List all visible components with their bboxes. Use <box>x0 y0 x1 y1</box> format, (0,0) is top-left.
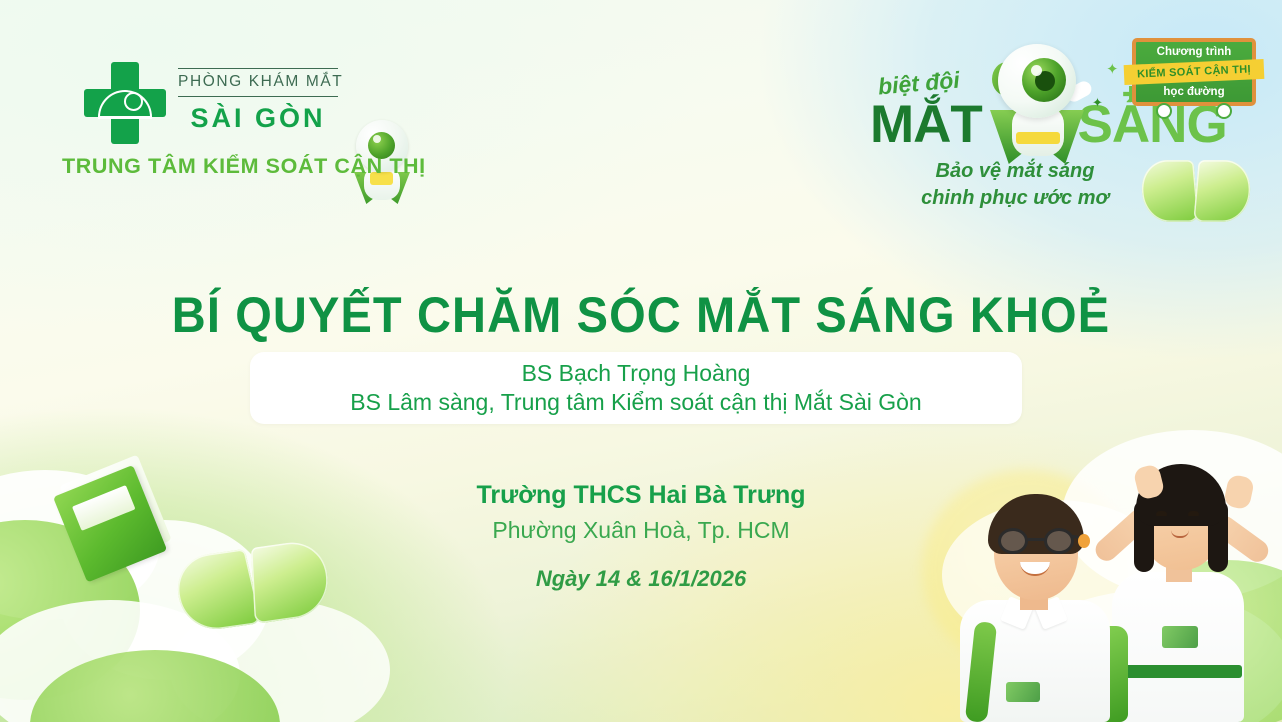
eye-robot-mascot-icon <box>982 40 1092 172</box>
student-boy <box>942 472 1132 722</box>
brand-tagline-line1: Bảo vệ mắt sáng <box>870 158 1160 185</box>
brand-tagline-line2: chinh phục ước mơ <box>870 185 1160 212</box>
badge-bottom-text: học đường <box>1128 86 1260 98</box>
uniform-logo-icon <box>1162 626 1198 648</box>
badge-ribbon-text: KIỂM SOÁT CẬN THỊ <box>1137 64 1251 81</box>
speaker-role: BS Lâm sàng, Trung tâm Kiểm soát cận thị… <box>350 388 921 417</box>
clinic-wordmark: PHÒNG KHÁM MẮT SÀI GÒN <box>178 68 338 134</box>
green-blob <box>30 650 280 722</box>
eyeglasses-icon <box>996 528 1076 554</box>
speaker-panel: BS Bạch Trọng Hoàng BS Lâm sàng, Trung t… <box>250 352 1022 424</box>
sparkle-icon: ✦ <box>1092 96 1103 109</box>
program-badge: Chương trình KIỂM SOÁT CẬN THỊ học đường <box>1128 36 1260 114</box>
cloud-shape <box>170 600 390 722</box>
clinic-name-line1: PHÒNG KHÁM MẮT <box>178 68 338 97</box>
students-photo <box>952 392 1282 722</box>
badge-top-text: Chương trình <box>1128 46 1260 58</box>
uniform-logo-icon <box>1006 682 1040 702</box>
medical-cross-eye-icon <box>84 62 166 144</box>
clinic-name-line2: SÀI GÒN <box>178 103 338 134</box>
badge-wheel-icon <box>1156 103 1172 119</box>
speaker-name: BS Bạch Trọng Hoàng <box>522 359 751 388</box>
presentation-slide: PHÒNG KHÁM MẮT SÀI GÒN TRUNG TÂM KIỂM SO… <box>0 0 1282 722</box>
clinic-logo: PHÒNG KHÁM MẮT SÀI GÒN TRUNG TÂM KIỂM SO… <box>62 58 422 183</box>
brand-tagline: Bảo vệ mắt sáng chinh phục ước mơ <box>870 158 1160 212</box>
clinic-tagline: TRUNG TÂM KIỂM SOÁT CẬN THỊ <box>62 154 422 179</box>
page-title: BÍ QUYẾT CHĂM SÓC MẮT SÁNG KHOẺ <box>38 286 1243 344</box>
brand-word-mat: MẮT <box>870 95 982 154</box>
sparkle-icon: ✦ <box>1106 62 1119 77</box>
badge-wheel-icon <box>1216 103 1232 119</box>
cloud-shape <box>0 600 240 722</box>
